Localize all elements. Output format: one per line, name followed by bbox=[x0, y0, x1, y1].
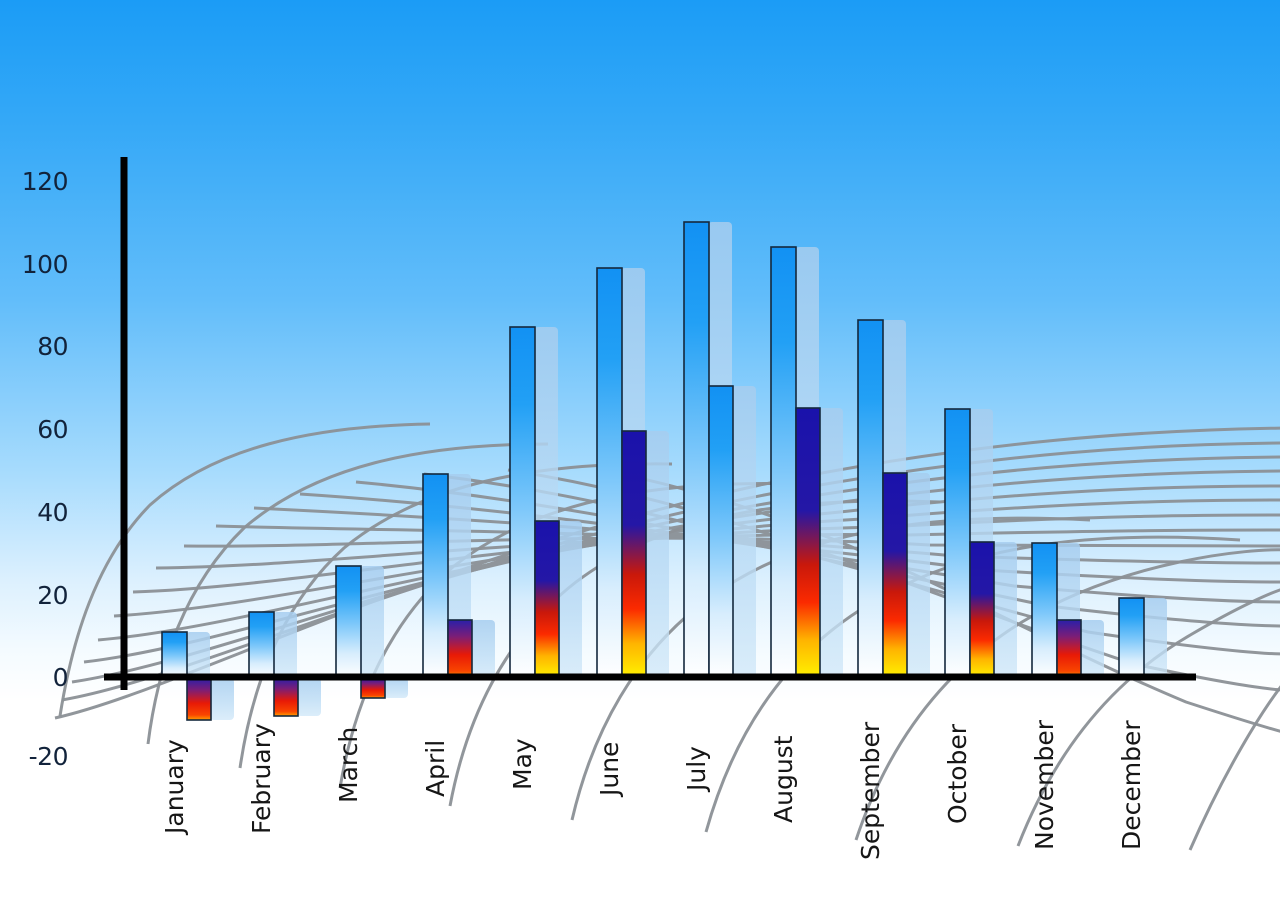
x-tick-april: April bbox=[421, 740, 450, 797]
x-tick-august: August bbox=[769, 736, 798, 824]
bar-group-july bbox=[684, 222, 756, 678]
x-tick-november: November bbox=[1030, 720, 1059, 850]
x-tick-july: July bbox=[682, 746, 711, 791]
y-tick-neg20: -20 bbox=[8, 742, 68, 771]
y-tick-40: 40 bbox=[8, 498, 68, 527]
bar-group-november bbox=[1032, 543, 1104, 678]
bar-chart: 120 100 80 60 40 20 0 -20 January Februa… bbox=[0, 0, 1280, 905]
x-tick-march: March bbox=[334, 727, 363, 803]
x-tick-january: January bbox=[160, 739, 189, 834]
bar-group-august bbox=[771, 247, 843, 678]
x-tick-june: June bbox=[595, 742, 624, 796]
bar-group-september bbox=[858, 320, 930, 678]
y-tick-100: 100 bbox=[8, 250, 68, 279]
bar-group-may bbox=[510, 327, 582, 678]
y-tick-0: 0 bbox=[8, 663, 68, 692]
y-tick-60: 60 bbox=[8, 415, 68, 444]
bar-group-june bbox=[597, 268, 669, 678]
y-tick-20: 20 bbox=[8, 581, 68, 610]
x-tick-october: October bbox=[943, 724, 972, 824]
y-tick-80: 80 bbox=[8, 332, 68, 361]
x-tick-may: May bbox=[508, 738, 537, 790]
bar-group-december bbox=[1119, 598, 1167, 678]
x-tick-february: February bbox=[247, 723, 276, 834]
bar-group-april bbox=[423, 474, 495, 678]
bar-group-october bbox=[945, 409, 1017, 678]
x-tick-september: September bbox=[856, 722, 885, 860]
plot-area bbox=[0, 0, 1280, 905]
x-tick-december: December bbox=[1117, 720, 1146, 850]
y-tick-120: 120 bbox=[8, 167, 68, 196]
bar-group-february bbox=[249, 612, 321, 716]
